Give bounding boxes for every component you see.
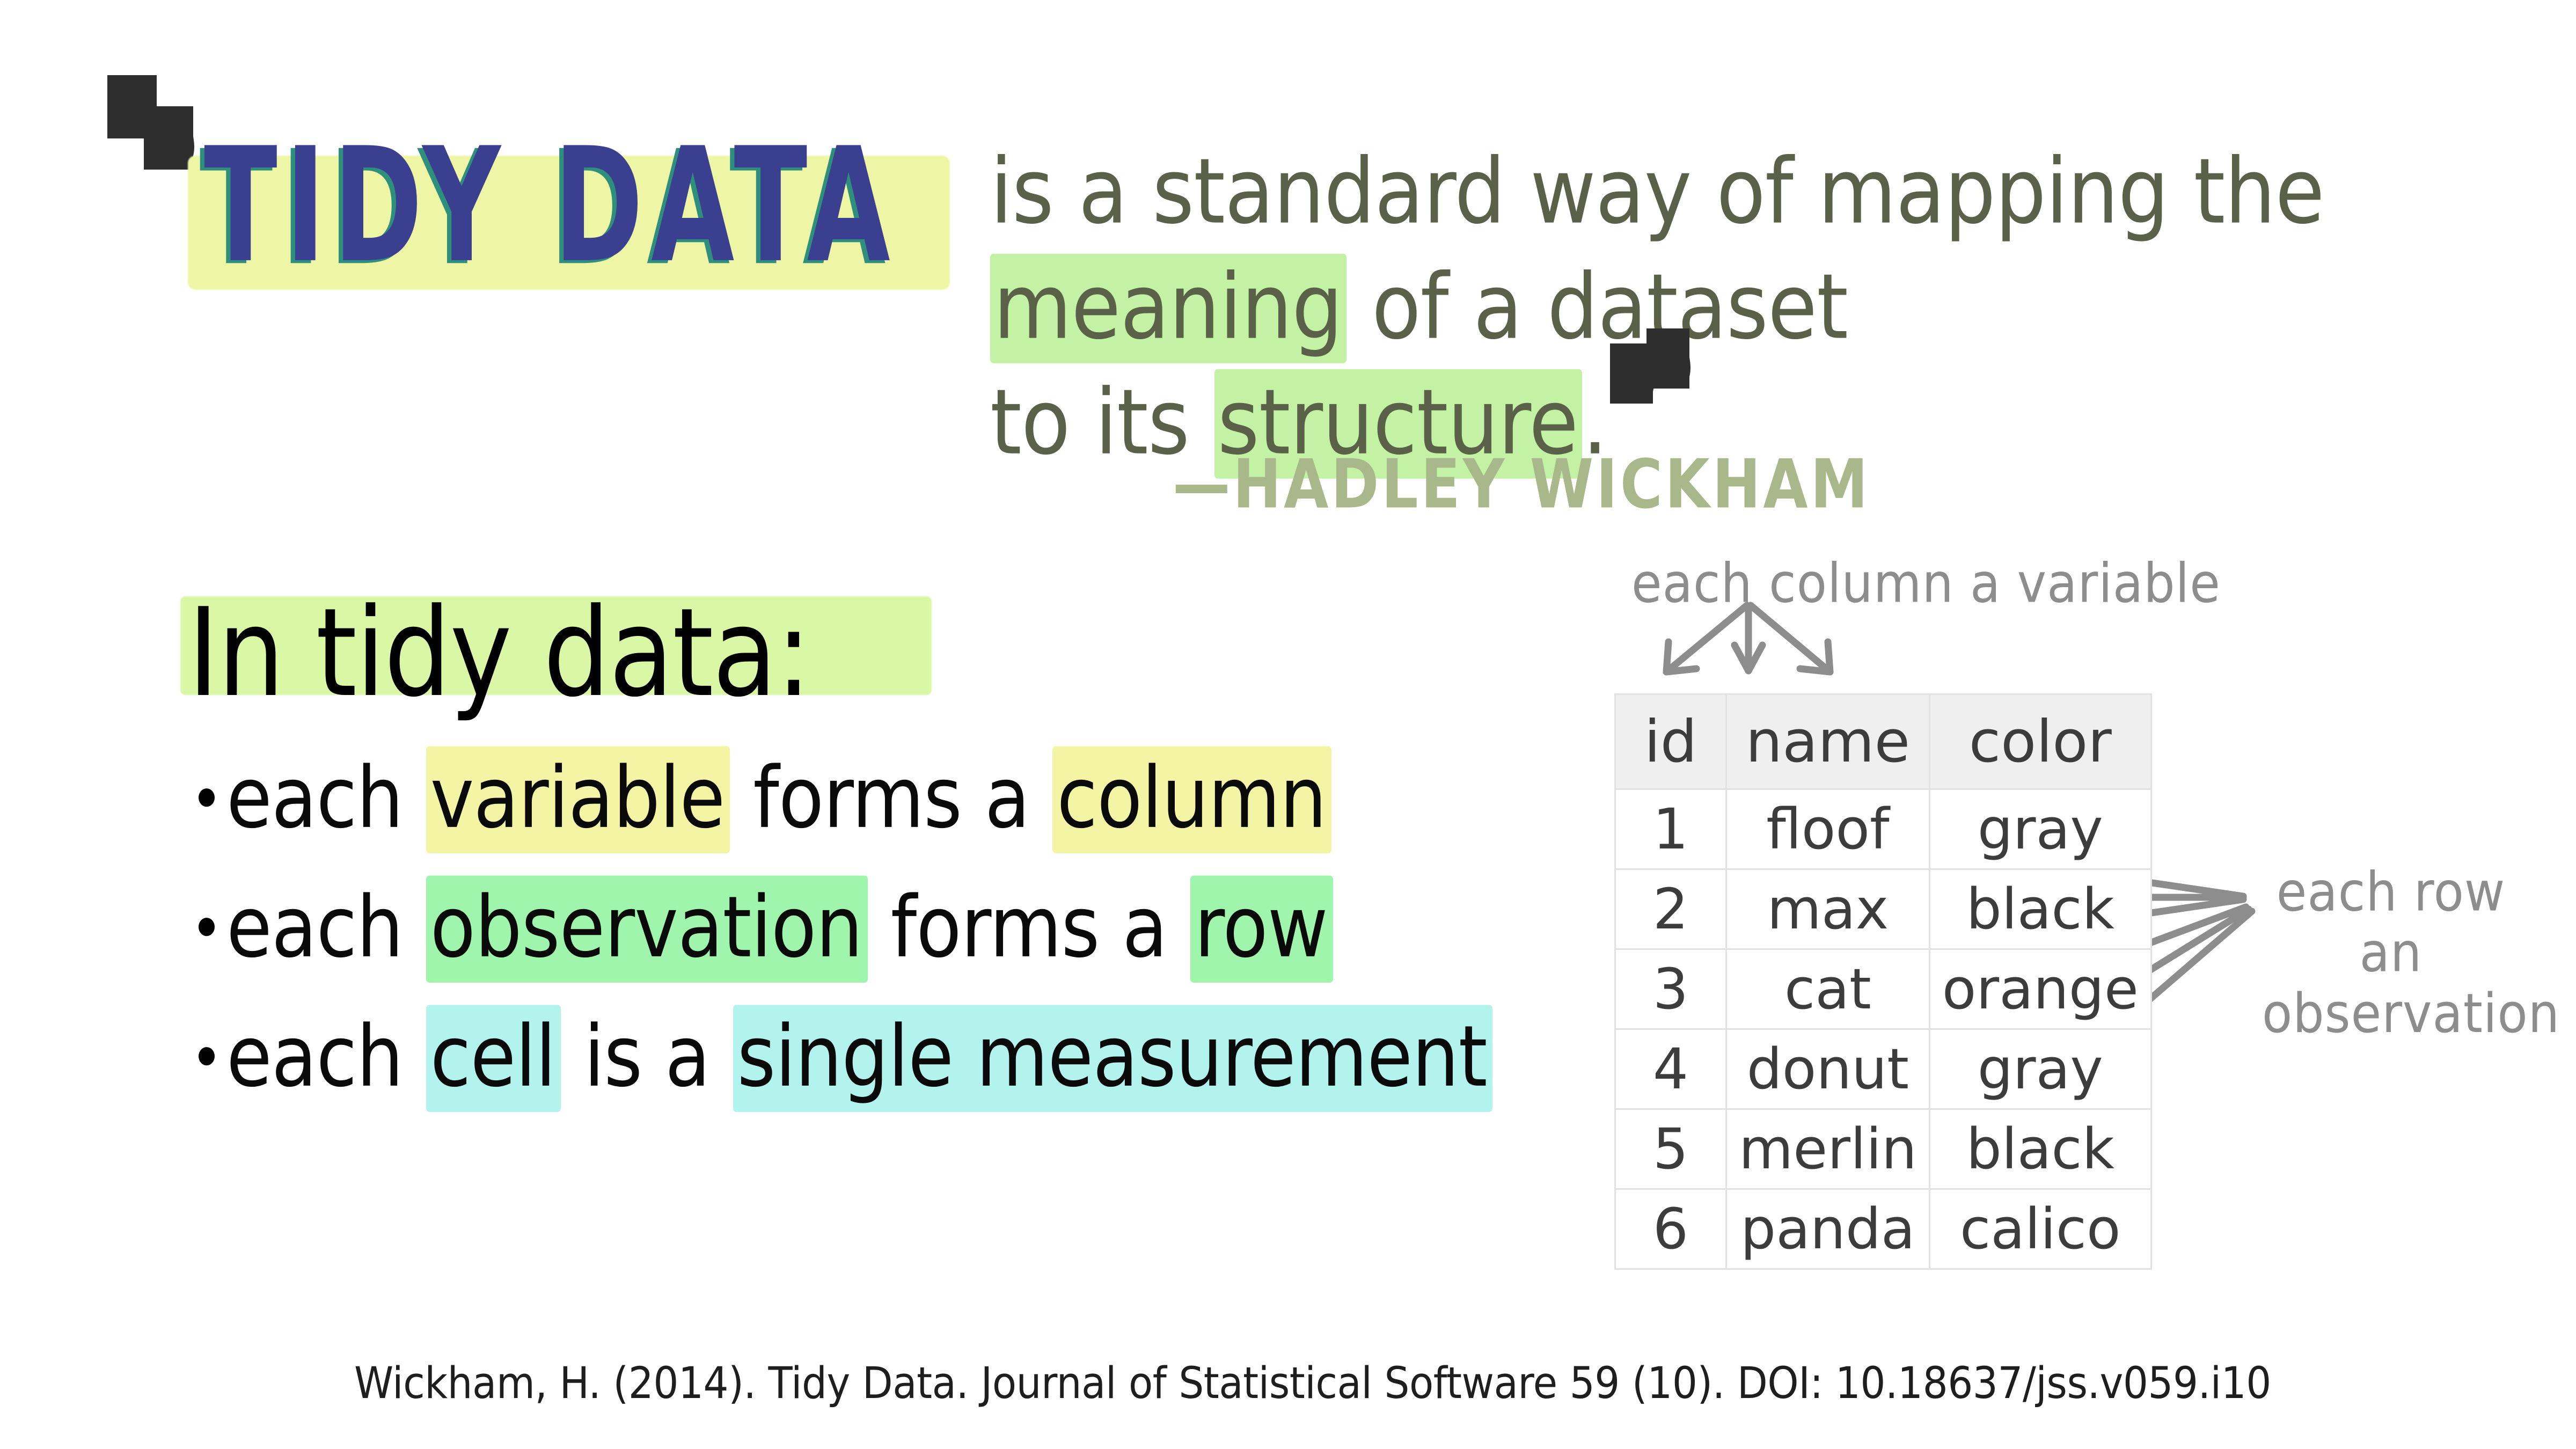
citation-footer: Wickham, H. (2014). Tidy Data. Journal o… — [354, 1358, 2271, 1409]
quote-text: is a standard way of mapping the meaning… — [990, 134, 2396, 480]
bullet-1-highlight-2: column — [1052, 746, 1331, 853]
slide-canvas: TIDY DATA is a standard way of mapping t… — [0, 0, 2576, 1449]
cell-name: merlin — [1726, 1109, 1930, 1189]
annotation-rows-line-2: an — [2262, 922, 2520, 983]
cell-name: max — [1726, 869, 1930, 949]
bullet-3-highlight-2: single measurement — [733, 1005, 1492, 1112]
cell-color: gray — [1929, 1029, 2151, 1109]
section-heading: In tidy data: — [188, 582, 810, 724]
cell-id: 2 — [1615, 869, 1726, 949]
cell-id: 5 — [1615, 1109, 1726, 1189]
close-quote-mark-icon-2 — [1646, 328, 1689, 389]
table-row: 2 max black — [1615, 869, 2151, 949]
table-row: 3 cat orange — [1615, 949, 2151, 1029]
bullet-list: each variable forms a column each observ… — [199, 749, 1492, 1137]
cell-id: 6 — [1615, 1189, 1726, 1269]
bullet-3-pre: each — [226, 1007, 426, 1106]
bullet-2-highlight-2: row — [1190, 875, 1333, 983]
data-table: id name color 1 floof gray 2 max black 3… — [1614, 693, 2152, 1270]
list-item: each observation forms a row — [199, 878, 1492, 977]
cell-color: black — [1929, 869, 2151, 949]
bullet-1-highlight-1: variable — [426, 746, 730, 853]
table-row: 5 merlin black — [1615, 1109, 2151, 1189]
cell-color: orange — [1929, 949, 2151, 1029]
bullet-1-mid: forms a — [730, 749, 1052, 847]
cell-id: 4 — [1615, 1029, 1726, 1109]
bullet-3-highlight-1: cell — [426, 1005, 561, 1112]
quote-attribution: —HADLEY WICKHAM — [1173, 445, 1870, 524]
bullet-dot-icon — [199, 789, 215, 807]
open-quote-mark-icon-2 — [144, 106, 193, 170]
table-header-row: id name color — [1615, 694, 2151, 789]
table-row: 4 donut gray — [1615, 1029, 2151, 1109]
annotation-rows-line-1: each row — [2262, 861, 2520, 922]
column-header-name: name — [1726, 694, 1930, 789]
bullet-1-pre: each — [226, 749, 426, 847]
list-item: each variable forms a column — [199, 749, 1492, 847]
section-heading-group: In tidy data: — [188, 582, 810, 705]
annotation-rows-line-3: observation — [2262, 983, 2520, 1044]
bullet-dot-icon — [199, 918, 215, 936]
bullet-3-mid: is a — [561, 1007, 733, 1106]
column-header-color: color — [1929, 694, 2151, 789]
table-row: 6 panda calico — [1615, 1189, 2151, 1269]
annotation-columns: each column a variable — [1631, 553, 2221, 613]
bullet-2-pre: each — [226, 878, 426, 977]
cell-name: panda — [1726, 1189, 1930, 1269]
bullet-dot-icon — [199, 1048, 215, 1066]
cell-color: calico — [1929, 1189, 2151, 1269]
cell-name: floof — [1726, 789, 1930, 869]
table-row: 1 floof gray — [1615, 789, 2151, 869]
bullet-2-mid: forms a — [868, 878, 1190, 977]
cell-color: gray — [1929, 789, 2151, 869]
cell-name: donut — [1726, 1029, 1930, 1109]
cell-name: cat — [1726, 949, 1930, 1029]
headline-text: TIDY DATA — [204, 134, 898, 280]
annotation-rows: each row an observation — [2262, 861, 2520, 1044]
cell-id: 3 — [1615, 949, 1726, 1029]
quote-line-2-rest: of a dataset — [1346, 255, 1848, 360]
cell-color: black — [1929, 1109, 2151, 1189]
bullet-2-highlight-1: observation — [426, 875, 868, 983]
quote-highlight-meaning: meaning — [990, 254, 1346, 363]
cell-id: 1 — [1615, 789, 1726, 869]
list-item: each cell is a single measurement — [199, 1007, 1492, 1106]
column-header-id: id — [1615, 694, 1726, 789]
quote-line-1: is a standard way of mapping the — [990, 140, 2324, 244]
headline-group: TIDY DATA — [204, 134, 958, 242]
